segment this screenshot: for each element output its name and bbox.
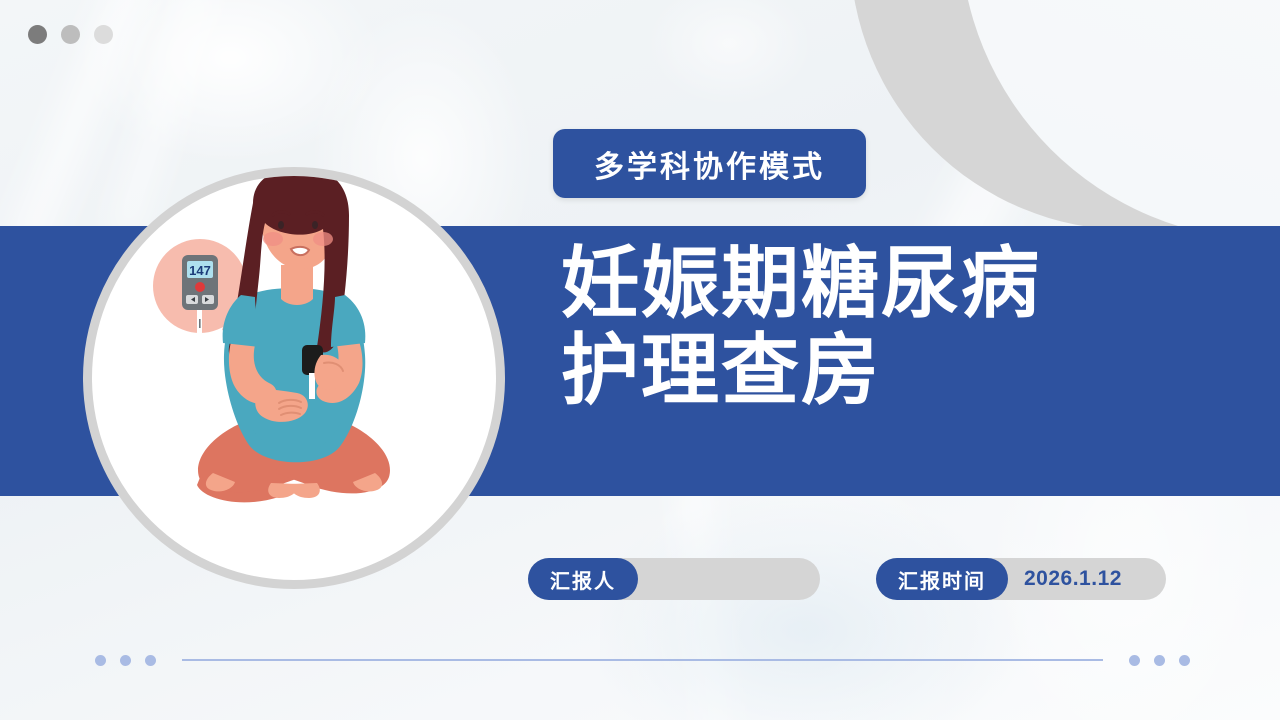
bottom-dot — [1154, 655, 1165, 666]
bottom-dot — [95, 655, 106, 666]
page-title: 妊娠期糖尿病 护理查房 — [561, 240, 1261, 415]
bottom-rule — [182, 659, 1103, 661]
report-date-field[interactable]: 汇报时间 2026.1.12 — [876, 558, 1166, 600]
corner-dots — [28, 25, 113, 44]
bottom-dot — [120, 655, 131, 666]
title-line-2: 护理查房 — [561, 327, 1261, 414]
bottom-dots-right — [1129, 655, 1190, 666]
subtitle-badge[interactable]: 多学科协作模式 — [553, 129, 866, 198]
illustration-circle: 147 — [83, 167, 505, 589]
bottom-decoration — [95, 650, 1190, 670]
presenter-field[interactable]: 汇报人 — [528, 558, 820, 600]
svg-text:147: 147 — [189, 263, 211, 278]
bottom-dot — [145, 655, 156, 666]
report-date-label: 汇报时间 — [876, 558, 1008, 600]
presenter-label: 汇报人 — [528, 558, 638, 600]
corner-dot-1 — [28, 25, 47, 44]
hand-on-belly — [255, 389, 308, 422]
report-date-value[interactable]: 2026.1.12 — [1008, 567, 1122, 591]
corner-dot-3 — [94, 25, 113, 44]
presentation-title-slide: 147 — [0, 0, 1280, 720]
background-soft-shadow — [600, 496, 1280, 720]
title-line-1: 妊娠期糖尿病 — [561, 240, 1261, 327]
bottom-dot — [1129, 655, 1140, 666]
pregnant-woman-glucose-illustration: 147 — [83, 167, 505, 589]
bottom-dots-left — [95, 655, 156, 666]
bottom-dot — [1179, 655, 1190, 666]
meta-info-row: 汇报人 汇报时间 2026.1.12 — [528, 558, 1166, 600]
corner-dot-2 — [61, 25, 80, 44]
subtitle-label: 多学科协作模式 — [594, 142, 825, 186]
